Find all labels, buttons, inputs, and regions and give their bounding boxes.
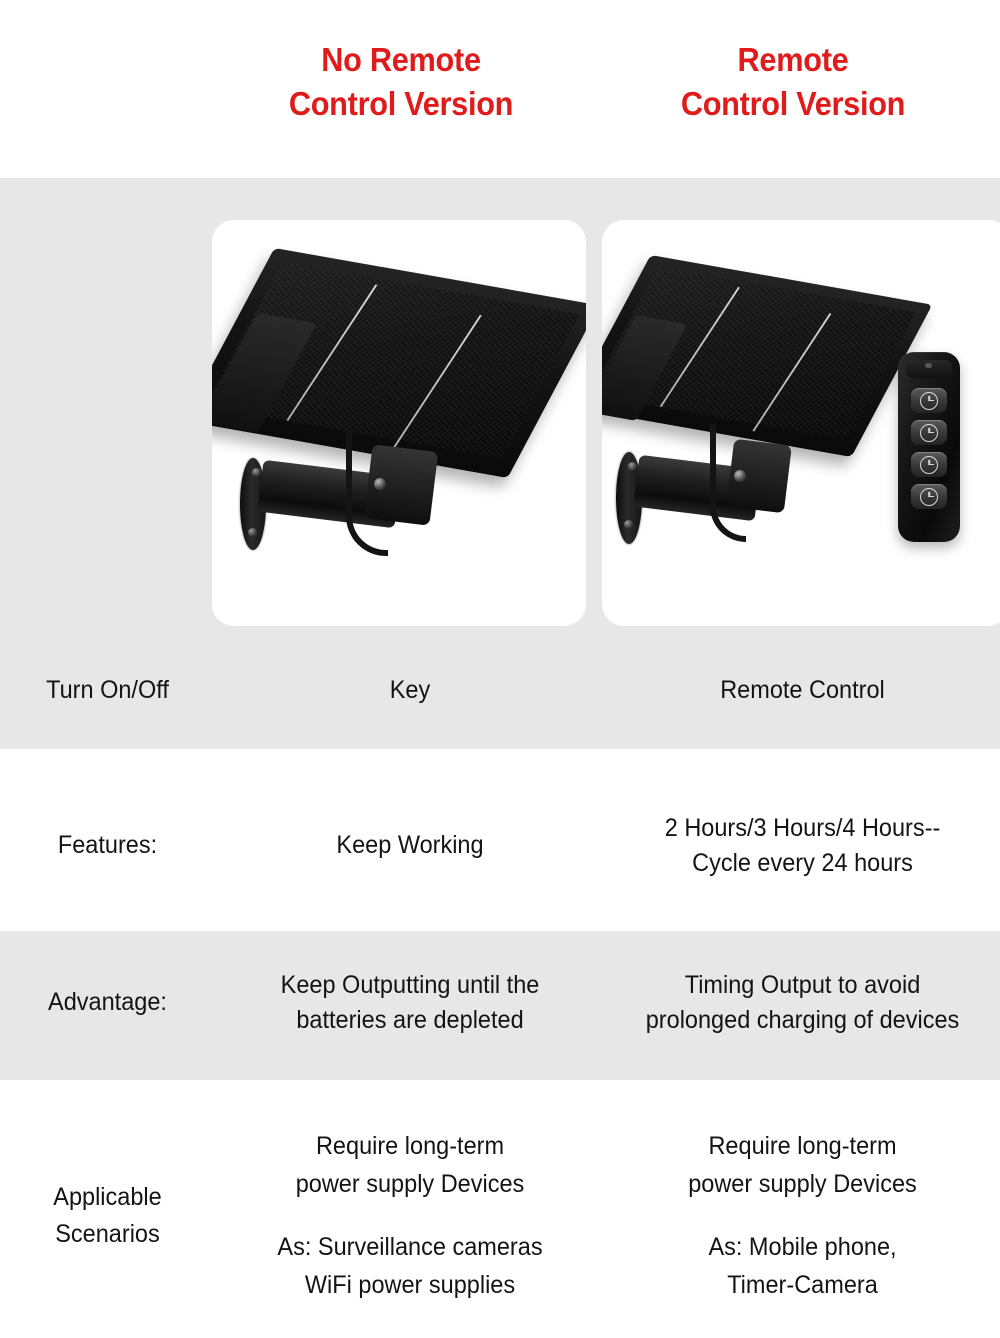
- row-label-applicable-scenarios: Applicable Scenarios: [6, 1179, 208, 1254]
- timer-clock-icon: [920, 456, 938, 474]
- cell-remote-advantage: Timing Output to avoid prolonged chargin…: [617, 968, 988, 1039]
- cell-remote-advantage-line2: prolonged charging of devices: [622, 1003, 982, 1039]
- row-label-scenarios-line2: Scenarios: [12, 1216, 203, 1254]
- header-remote-line1: Remote: [640, 38, 947, 82]
- remote-button-3[interactable]: [911, 452, 947, 477]
- row-advantage: Advantage: Keep Outputting until the bat…: [0, 947, 1000, 1059]
- cell-remote-scenarios-line4: Timer-Camera: [622, 1267, 982, 1305]
- row-applicable-scenarios: Applicable Scenarios Require long-term p…: [0, 1110, 1000, 1322]
- cell-no-remote-scenarios-line4: WiFi power supplies: [232, 1267, 587, 1305]
- row-label-advantage: Advantage:: [6, 985, 208, 1021]
- cell-remote-scenarios-line1: Require long-term: [622, 1128, 982, 1166]
- timer-clock-icon: [920, 392, 938, 410]
- cell-remote-features: 2 Hours/3 Hours/4 Hours-- Cycle every 24…: [617, 811, 988, 882]
- spacer: [622, 1203, 982, 1229]
- remote-button-1[interactable]: [911, 388, 947, 413]
- power-cable: [710, 424, 746, 542]
- cell-no-remote-features: Keep Working: [227, 828, 594, 864]
- cell-no-remote-scenarios-line3: As: Surveillance cameras: [232, 1229, 587, 1267]
- remote-button-2[interactable]: [911, 420, 947, 445]
- remote-control-icon: [898, 352, 960, 542]
- headers-section: No Remote Control Version Remote Control…: [0, 0, 1000, 178]
- mount-screw-icon: [624, 520, 633, 529]
- cell-remote-features-line1: 2 Hours/3 Hours/4 Hours--: [622, 811, 982, 847]
- timer-clock-icon: [920, 424, 938, 442]
- mount-screw-icon: [252, 468, 261, 477]
- cell-remote-advantage-line1: Timing Output to avoid: [622, 968, 982, 1004]
- cell-no-remote-scenarios-line2: power supply Devices: [232, 1166, 587, 1204]
- cell-no-remote-scenarios: Require long-term power supply Devices A…: [227, 1128, 594, 1304]
- cell-remote-scenarios-line2: power supply Devices: [622, 1166, 982, 1204]
- product-image-card-remote: [602, 220, 1000, 626]
- header-no-remote-version: No Remote Control Version: [248, 38, 555, 125]
- timer-clock-icon: [920, 488, 938, 506]
- header-no-remote-line1: No Remote: [248, 38, 555, 82]
- spacer: [232, 1203, 587, 1229]
- remote-led-icon: [925, 363, 932, 368]
- mount-screw-icon: [628, 462, 637, 471]
- solar-panel-assembly-icon: [218, 262, 584, 582]
- row-label-features: Features:: [6, 828, 208, 864]
- header-remote-version: Remote Control Version: [640, 38, 947, 125]
- remote-button-4[interactable]: [911, 484, 947, 509]
- cell-remote-scenarios: Require long-term power supply Devices A…: [617, 1128, 988, 1304]
- cell-remote-scenarios-line3: As: Mobile phone,: [622, 1229, 982, 1267]
- row-turn-on-off: Turn On/Off Key Remote Control: [0, 645, 1000, 737]
- cell-no-remote-scenarios-line1: Require long-term: [232, 1128, 587, 1166]
- row-label-scenarios-line1: Applicable: [12, 1179, 203, 1217]
- cell-no-remote-advantage-line2: batteries are depleted: [232, 1003, 587, 1039]
- cell-remote-features-line2: Cycle every 24 hours: [622, 846, 982, 882]
- cell-no-remote-advantage-line1: Keep Outputting until the: [232, 968, 587, 1004]
- header-remote-line2: Control Version: [640, 82, 947, 126]
- power-cable: [346, 430, 388, 556]
- row-label-turn-on-off: Turn On/Off: [6, 673, 208, 709]
- row-features: Features: Keep Working 2 Hours/3 Hours/4…: [0, 790, 1000, 902]
- solar-panel-assembly-icon: [602, 262, 932, 582]
- cell-no-remote-turn-on-off: Key: [227, 673, 594, 709]
- mount-screw-icon: [248, 528, 257, 537]
- header-no-remote-line2: Control Version: [248, 82, 555, 126]
- product-comparison-page: No Remote Control Version Remote Control…: [0, 0, 1000, 1338]
- product-image-card-no-remote: [212, 220, 586, 626]
- cell-no-remote-advantage: Keep Outputting until the batteries are …: [227, 968, 594, 1039]
- cell-remote-turn-on-off: Remote Control: [617, 673, 988, 709]
